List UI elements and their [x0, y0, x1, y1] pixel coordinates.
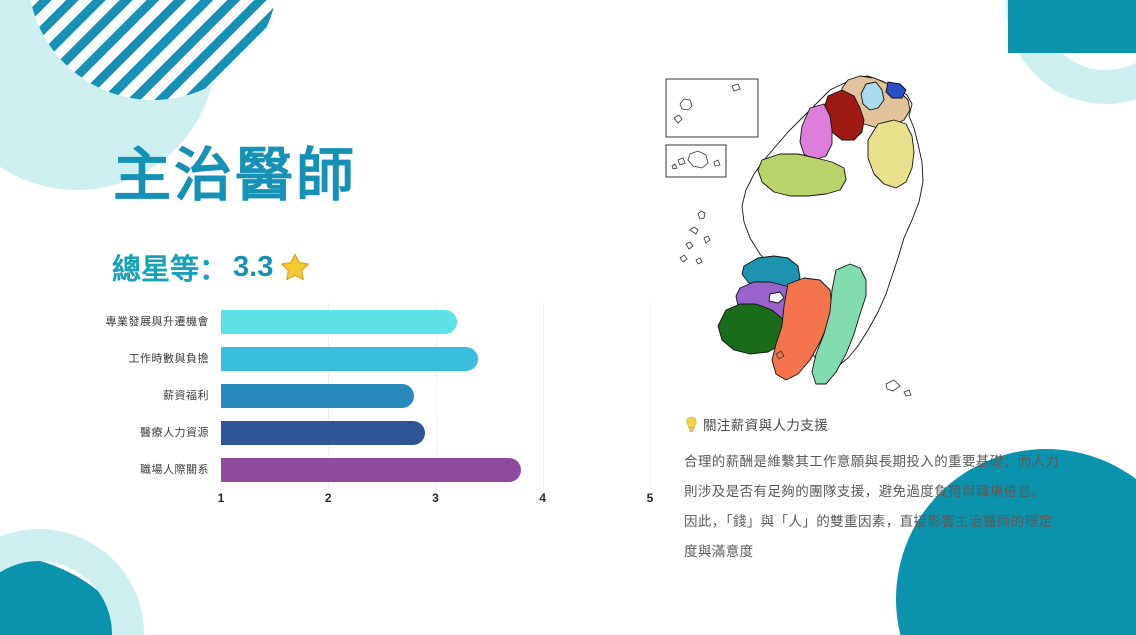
- chart-bar-row: 醫療人力資源: [221, 421, 650, 445]
- decoration-bottom-left-arc: [0, 529, 144, 635]
- chart-category-label: 醫療人力資源: [140, 421, 209, 445]
- insight-note-line: 因此，「錢」與「人」的雙重因素，直接影響主治醫師的穩定: [684, 507, 1084, 537]
- chart-category-label: 專業發展與升遷機會: [106, 310, 210, 334]
- chart-category-label: 工作時數與負擔: [129, 347, 210, 371]
- insight-note-line: 度與滿意度: [684, 537, 1084, 567]
- overall-rating-label: 總星等：: [112, 246, 228, 288]
- chart-x-tick: 1: [218, 491, 225, 505]
- insight-note-line: 則涉及是否有足夠的團隊支援，避免過度負荷與職場倦怠。: [684, 477, 1084, 507]
- slide-canvas: 主治醫師 總星等：3.3 專業發展與升遷機會工作時數與負擔薪資福利醫療人力資源職…: [0, 0, 1136, 635]
- insight-note: 關注薪資與人力支援 合理的薪酬是維繫其工作意願與長期投入的重要基礎；而人力則涉及…: [684, 414, 1084, 567]
- insight-note-heading-text: 關注薪資與人力支援: [703, 414, 828, 434]
- chart-bar: [221, 347, 478, 371]
- insight-note-heading: 關注薪資與人力支援: [684, 414, 1084, 434]
- chart-gridline: [650, 303, 651, 489]
- chart-x-axis: 12345: [221, 491, 650, 515]
- chart-x-tick: 2: [325, 491, 332, 505]
- chart-bar-row: 薪資福利: [221, 384, 650, 408]
- decoration-top-right-arc: [1006, 0, 1136, 104]
- ratings-bar-chart: 專業發展與升遷機會工作時數與負擔薪資福利醫療人力資源職場人際關系 12345: [105, 303, 650, 515]
- chart-bar-row: 工作時數與負擔: [221, 347, 650, 371]
- chart-bar: [221, 310, 457, 334]
- chart-x-tick: 4: [539, 491, 546, 505]
- overall-rating-score: 3.3: [233, 251, 273, 284]
- chart-bar-row: 職場人際關系: [221, 458, 650, 482]
- star-icon: [280, 252, 310, 282]
- chart-bar: [221, 421, 425, 445]
- chart-x-tick: 3: [432, 491, 439, 505]
- chart-bar: [221, 458, 521, 482]
- insight-note-line: 合理的薪酬是維繫其工作意願與長期投入的重要基礎；而人力: [684, 447, 1084, 477]
- chart-category-label: 職場人際關系: [140, 458, 209, 482]
- chart-bar: [221, 384, 414, 408]
- decoration-top-right-block: [1008, 0, 1136, 53]
- chart-x-tick: 5: [647, 491, 654, 505]
- insight-note-body: 合理的薪酬是維繫其工作意願與長期投入的重要基礎；而人力則涉及是否有足夠的團隊支援…: [684, 447, 1084, 567]
- decoration-bottom-left-shape: [0, 503, 190, 635]
- chart-bar-row: 專業發展與升遷機會: [221, 310, 650, 334]
- decoration-top-left-striped-circle: [28, 0, 278, 100]
- chart-plot-area: 專業發展與升遷機會工作時數與負擔薪資福利醫療人力資源職場人際關系: [221, 303, 650, 489]
- overall-rating: 總星等：3.3: [112, 246, 310, 288]
- page-title: 主治醫師: [113, 146, 357, 207]
- chart-category-label: 薪資福利: [163, 384, 209, 408]
- taiwan-counties-map: [660, 62, 960, 407]
- lightbulb-icon: [684, 416, 699, 433]
